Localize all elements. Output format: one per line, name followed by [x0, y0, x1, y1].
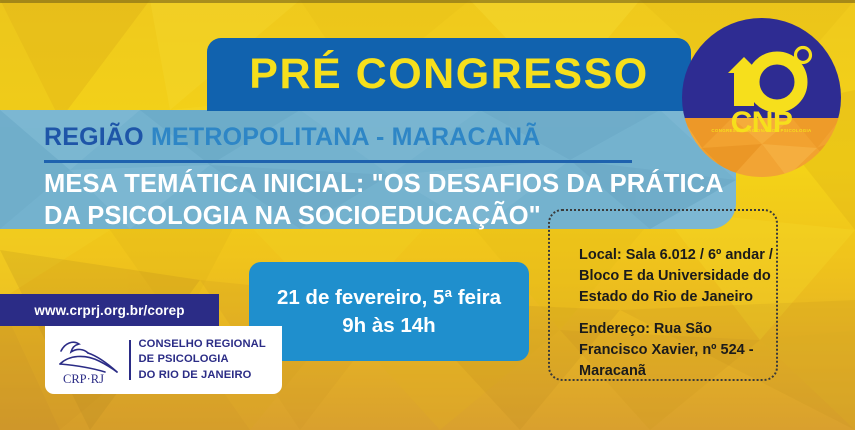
poster-canvas: PRÉ CONGRESSO REGIÃO METROPOLITANA - MAR… — [0, 0, 855, 430]
main-title-line-1: MESA TEMÁTICA INICIAL: "OS DESAFIOS DA P… — [44, 168, 724, 200]
pre-congresso-banner: PRÉ CONGRESSO — [207, 38, 691, 111]
time-line: 9h às 14h — [342, 312, 435, 340]
region-line: REGIÃO METROPOLITANA - MARACANÃ — [44, 123, 540, 152]
endereco-line-2: Francisco Xavier, nº 524 - — [579, 340, 787, 361]
info-box-text: Local: Sala 6.012 / 6º andar / Bloco E d… — [579, 245, 787, 382]
cnp-logo-artwork: CNP — [682, 18, 841, 177]
date-line: 21 de fevereiro, 5ª feira — [277, 284, 501, 312]
cnp-subtitle: CONGRESSO NACIONAL DE PSICOLOGIA — [682, 128, 841, 133]
crp-text-block: CONSELHO REGIONAL DE PSICOLOGIA DO RIO D… — [139, 337, 266, 383]
crp-mark-svg: CRP·RJ — [55, 334, 127, 386]
region-underline — [44, 160, 632, 163]
endereco-line-1: Endereço: Rua São — [579, 319, 787, 340]
local-line-2: Bloco E da Universidade do — [579, 266, 787, 287]
banner-title: PRÉ CONGRESSO — [249, 53, 648, 96]
region-part-1: REGIÃO — [44, 123, 144, 151]
endereco-line-3: Maracanã — [579, 361, 787, 382]
website-url-bar[interactable]: www.crprj.org.br/corep — [0, 294, 219, 326]
cnp-acronym: CNP — [731, 106, 793, 139]
region-part-2: METROPOLITANA - MARACANÃ — [151, 123, 540, 151]
date-time-box: 21 de fevereiro, 5ª feira 9h às 14h — [249, 262, 529, 361]
crp-rj-logo-card: CRP·RJ CONSELHO REGIONAL DE PSICOLOGIA D… — [45, 326, 282, 394]
local-line-3: Estado do Rio de Janeiro — [579, 287, 787, 308]
crp-line-2: DE PSICOLOGIA — [139, 352, 266, 367]
cnp-logo: CNP CONGRESSO NACIONAL DE PSICOLOGIA — [682, 18, 841, 177]
local-line-1: Local: Sala 6.012 / 6º andar / — [579, 245, 787, 266]
crp-line-3: DO RIO DE JANEIRO — [139, 368, 266, 383]
local-block: Local: Sala 6.012 / 6º andar / Bloco E d… — [579, 245, 787, 308]
crp-divider — [129, 340, 131, 380]
crp-mark-text: CRP·RJ — [63, 372, 104, 386]
website-url[interactable]: www.crprj.org.br/corep — [34, 303, 184, 318]
crp-line-1: CONSELHO REGIONAL — [139, 337, 266, 352]
crp-bird-book-icon: CRP·RJ — [55, 334, 127, 386]
top-border-line — [0, 0, 855, 3]
endereco-block: Endereço: Rua São Francisco Xavier, nº 5… — [579, 319, 787, 382]
